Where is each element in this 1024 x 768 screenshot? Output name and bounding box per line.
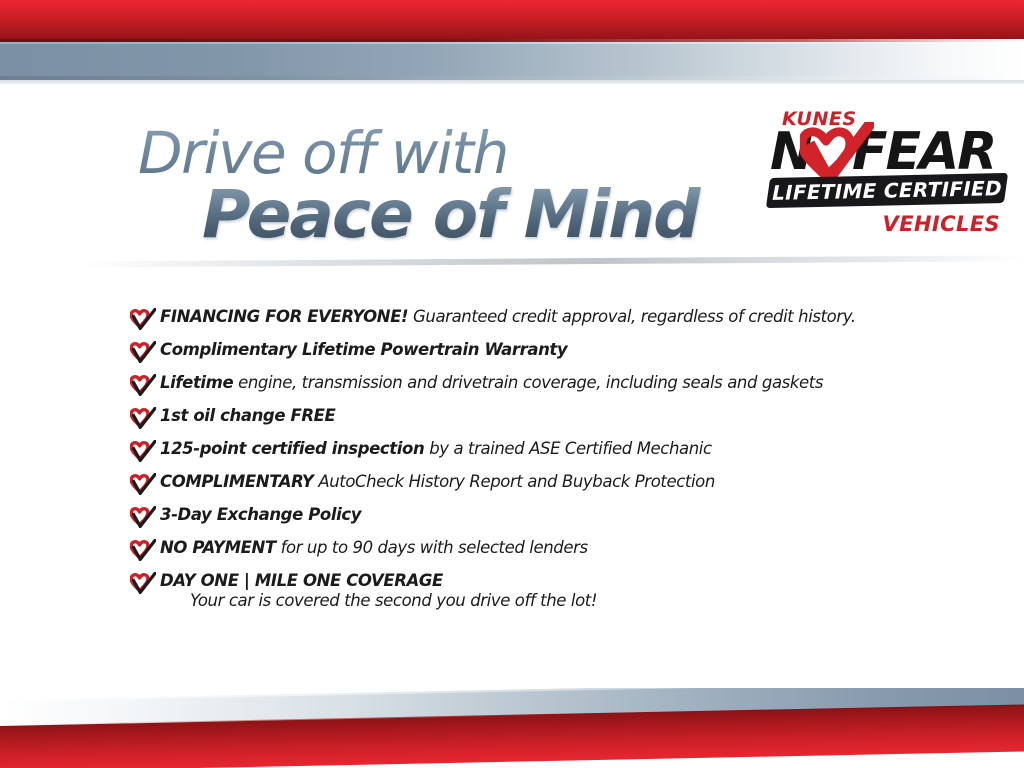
feature-headline: NO PAYMENT: [160, 538, 276, 557]
feature-text: COMPLIMENTARY AutoCheck History Report a…: [160, 471, 715, 493]
logo-vehicles-text: VEHICLES: [883, 212, 1000, 236]
feature-text: DAY ONE | MILE ONE COVERAGE: [160, 570, 597, 592]
feature-text-block: 125-point certified inspection by a trai…: [160, 438, 712, 460]
heart-check-bullet-icon: [130, 407, 156, 429]
feature-text: Complimentary Lifetime Powertrain Warran…: [160, 339, 567, 361]
feature-item: 125-point certified inspection by a trai…: [130, 438, 970, 462]
heart-check-bullet-icon: [130, 506, 156, 528]
feature-text: NO PAYMENT for up to 90 days with select…: [160, 537, 588, 559]
feature-item: 3-Day Exchange Policy: [130, 504, 970, 528]
feature-detail: by a trained ASE Certified Mechanic: [424, 439, 711, 458]
feature-text-block: COMPLIMENTARY AutoCheck History Report a…: [160, 471, 715, 493]
feature-detail: AutoCheck History Report and Buyback Pro…: [313, 472, 714, 491]
feature-text-block: FINANCING FOR EVERYONE! Guaranteed credi…: [160, 306, 856, 328]
feature-item: Lifetime engine, transmission and drivet…: [130, 372, 970, 396]
feature-headline: FINANCING FOR EVERYONE!: [160, 307, 408, 326]
feature-item: FINANCING FOR EVERYONE! Guaranteed credi…: [130, 306, 970, 330]
feature-text-block: 3-Day Exchange Policy: [160, 504, 361, 526]
feature-item: DAY ONE | MILE ONE COVERAGEYour car is c…: [130, 570, 970, 612]
feature-headline: 3-Day Exchange Policy: [160, 505, 361, 524]
feature-text: FINANCING FOR EVERYONE! Guaranteed credi…: [160, 306, 856, 328]
heart-check-bullet-icon: [130, 539, 156, 561]
headline-line-2: Peace of Mind: [202, 180, 778, 250]
feature-text: 3-Day Exchange Policy: [160, 504, 361, 526]
feature-text: Lifetime engine, transmission and drivet…: [160, 372, 823, 394]
kunes-no-fear-logo: KUNES N FEAR LIFETIME CERTIFIED VEHICLES: [766, 108, 1008, 248]
promotional-poster: Drive off with Peace of Mind KUNES N FEA…: [0, 0, 1024, 768]
feature-text-block: 1st oil change FREE: [160, 405, 335, 427]
feature-headline: Complimentary Lifetime Powertrain Warran…: [160, 340, 567, 359]
top-banner-fade: [0, 80, 1024, 84]
section-divider: [0, 255, 1024, 268]
heart-check-bullet-icon: [130, 572, 156, 594]
top-red-stripe: [0, 0, 1024, 41]
feature-detail: for up to 90 days with selected lenders: [276, 538, 588, 557]
feature-item: COMPLIMENTARY AutoCheck History Report a…: [130, 471, 970, 495]
headline: Drive off with Peace of Mind: [138, 122, 778, 250]
top-banner: [0, 0, 1024, 84]
feature-item: Complimentary Lifetime Powertrain Warran…: [130, 339, 970, 363]
feature-item: NO PAYMENT for up to 90 days with select…: [130, 537, 970, 561]
logo-certified-band: LIFETIME CERTIFIED: [766, 173, 1008, 208]
feature-headline: 1st oil change FREE: [160, 406, 335, 425]
heart-check-bullet-icon: [130, 308, 156, 330]
heart-check-bullet-icon: [130, 341, 156, 363]
feature-text-block: NO PAYMENT for up to 90 days with select…: [160, 537, 588, 559]
feature-text: 125-point certified inspection by a trai…: [160, 438, 712, 460]
bottom-banner: [0, 688, 1024, 768]
heart-check-bullet-icon: [130, 473, 156, 495]
top-gray-stripe: [0, 42, 1024, 78]
feature-text-block: Complimentary Lifetime Powertrain Warran…: [160, 339, 567, 361]
heart-check-bullet-icon: [130, 440, 156, 462]
feature-headline: Lifetime: [160, 373, 233, 392]
feature-subtext: Your car is covered the second you drive…: [190, 590, 597, 612]
feature-item: 1st oil change FREE: [130, 405, 970, 429]
feature-text: 1st oil change FREE: [160, 405, 335, 427]
feature-detail: Guaranteed credit approval, regardless o…: [408, 307, 856, 326]
logo-certified-text: LIFETIME CERTIFIED: [768, 173, 1006, 208]
feature-text-block: Lifetime engine, transmission and drivet…: [160, 372, 823, 394]
heart-check-bullet-icon: [130, 374, 156, 396]
top-gray-highlight: [0, 42, 1024, 44]
feature-headline: COMPLIMENTARY: [160, 472, 313, 491]
feature-headline: 125-point certified inspection: [160, 439, 424, 458]
headline-line-1: Drive off with: [138, 122, 778, 184]
feature-detail: engine, transmission and drivetrain cove…: [233, 373, 823, 392]
feature-headline: DAY ONE | MILE ONE COVERAGE: [160, 571, 443, 590]
feature-text-block: DAY ONE | MILE ONE COVERAGEYour car is c…: [160, 570, 597, 612]
feature-list: FINANCING FOR EVERYONE! Guaranteed credi…: [130, 306, 970, 621]
